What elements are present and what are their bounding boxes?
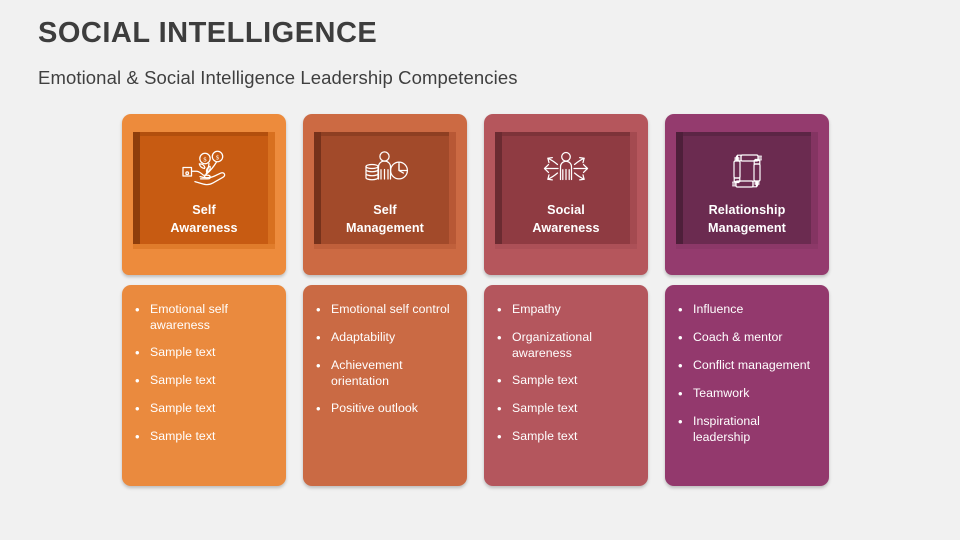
list-item-label: Empathy [512, 301, 636, 317]
list-item[interactable]: •Organizational awareness [497, 329, 636, 361]
competency-inner-panel-relationship-management: RelationshipManagement [676, 132, 818, 249]
bullet-dot-icon: • [678, 385, 693, 402]
list-item[interactable]: •Sample text [497, 372, 636, 389]
competency-title-line2: Management [346, 219, 424, 237]
competency-bullets-card-self-awareness[interactable]: •Emotional self awareness•Sample text•Sa… [122, 285, 286, 486]
panel-left-shadow [495, 132, 502, 249]
page-subtitle: Emotional & Social Intelligence Leadersh… [38, 67, 518, 89]
list-item-label: Inspirational leadership [693, 413, 817, 445]
page-title: SOCIAL INTELLIGENCE [38, 18, 518, 50]
list-item[interactable]: •Empathy [497, 301, 636, 318]
list-item[interactable]: •Sample text [135, 372, 274, 389]
bullet-dot-icon: • [497, 329, 512, 346]
four-arms-square-icon [722, 148, 772, 194]
list-item-label: Organizational awareness [512, 329, 636, 361]
list-item[interactable]: •Achievement orientation [316, 357, 455, 389]
competency-bullets-card-self-management[interactable]: •Emotional self control•Adaptability•Ach… [303, 285, 467, 486]
competency-bullets-card-relationship-management[interactable]: •Influence•Coach & mentor•Conflict manag… [665, 285, 829, 486]
bullet-dot-icon: • [497, 400, 512, 417]
competency-title-self-awareness: SelfAwareness [166, 201, 241, 238]
list-item-label: Sample text [150, 428, 274, 444]
list-item[interactable]: •Emotional self control [316, 301, 455, 318]
list-item[interactable]: •Sample text [497, 400, 636, 417]
list-item[interactable]: •Sample text [135, 428, 274, 445]
panel-right-highlight [268, 132, 275, 249]
competency-title-line2: Awareness [532, 219, 599, 237]
bullet-dot-icon: • [316, 357, 331, 374]
competency-cards-row: $ $ SelfAwareness•Emotional self awarene… [122, 114, 838, 486]
competency-header-card-self-awareness[interactable]: $ $ SelfAwareness [122, 114, 286, 275]
bullet-dot-icon: • [497, 428, 512, 445]
panel-top-ledge [314, 132, 456, 136]
bullet-dot-icon: • [678, 329, 693, 346]
bullet-dot-icon: • [135, 344, 150, 361]
list-item[interactable]: •Influence [678, 301, 817, 318]
list-item[interactable]: •Inspirational leadership [678, 413, 817, 445]
list-item[interactable]: •Conflict management [678, 357, 817, 374]
list-item-label: Achievement orientation [331, 357, 455, 389]
competency-column-social-awareness: SocialAwareness•Empathy•Organizational a… [484, 114, 648, 486]
list-item-label: Sample text [512, 372, 636, 388]
list-item-label: Emotional self awareness [150, 301, 274, 333]
panel-left-shadow [314, 132, 321, 249]
bullet-dot-icon: • [497, 301, 512, 318]
list-item[interactable]: •Positive outlook [316, 400, 455, 417]
list-item-label: Coach & mentor [693, 329, 817, 345]
competency-title-self-management: SelfManagement [342, 201, 428, 238]
list-item-label: Sample text [150, 400, 274, 416]
competency-inner-panel-self-management: SelfManagement [314, 132, 456, 249]
competency-column-self-awareness: $ $ SelfAwareness•Emotional self awarene… [122, 114, 286, 486]
bullet-dot-icon: • [678, 413, 693, 430]
list-item-label: Adaptability [331, 329, 455, 345]
bullet-dot-icon: • [135, 428, 150, 445]
competency-title-line2: Awareness [170, 219, 237, 237]
bullet-dot-icon: • [678, 301, 693, 318]
competency-column-relationship-management: RelationshipManagement•Influence•Coach &… [665, 114, 829, 486]
bullet-dot-icon: • [316, 400, 331, 417]
list-item-label: Positive outlook [331, 400, 455, 416]
competency-title-line1: Relationship [708, 201, 786, 219]
panel-right-highlight [811, 132, 818, 249]
list-item-label: Sample text [512, 400, 636, 416]
person-radiating-arrows-icon [537, 148, 595, 194]
competency-title-line1: Self [170, 201, 237, 219]
panel-top-ledge [495, 132, 637, 136]
list-item[interactable]: •Sample text [135, 400, 274, 417]
person-coins-clock-icon [359, 148, 411, 194]
bullet-dot-icon: • [135, 301, 150, 318]
competency-title-social-awareness: SocialAwareness [528, 201, 603, 238]
list-item[interactable]: •Sample text [497, 428, 636, 445]
slide-header: SOCIAL INTELLIGENCE Emotional & Social I… [38, 18, 518, 89]
bullet-list-self-awareness: •Emotional self awareness•Sample text•Sa… [135, 301, 274, 445]
list-item[interactable]: •Emotional self awareness [135, 301, 274, 333]
bullet-dot-icon: • [135, 400, 150, 417]
bullet-dot-icon: • [316, 329, 331, 346]
bullet-dot-icon: • [135, 372, 150, 389]
bullet-list-relationship-management: •Influence•Coach & mentor•Conflict manag… [678, 301, 817, 445]
competency-header-card-self-management[interactable]: SelfManagement [303, 114, 467, 275]
bullet-dot-icon: • [316, 301, 331, 318]
bullet-list-social-awareness: •Empathy•Organizational awareness•Sample… [497, 301, 636, 445]
bullet-dot-icon: • [497, 372, 512, 389]
panel-right-highlight [630, 132, 637, 249]
competency-title-line2: Management [708, 219, 786, 237]
list-item-label: Influence [693, 301, 817, 317]
panel-bottom-ledge [676, 244, 818, 249]
list-item-label: Conflict management [693, 357, 817, 373]
bullet-list-self-management: •Emotional self control•Adaptability•Ach… [316, 301, 455, 417]
panel-bottom-ledge [133, 244, 275, 249]
competency-header-card-relationship-management[interactable]: RelationshipManagement [665, 114, 829, 275]
panel-left-shadow [676, 132, 683, 249]
panel-top-ledge [676, 132, 818, 136]
panel-bottom-ledge [495, 244, 637, 249]
hand-plant-coins-icon: $ $ [178, 148, 230, 194]
bullet-dot-icon: • [678, 357, 693, 374]
panel-top-ledge [133, 132, 275, 136]
competency-title-line1: Social [532, 201, 599, 219]
competency-inner-panel-self-awareness: $ $ SelfAwareness [133, 132, 275, 249]
list-item-label: Teamwork [693, 385, 817, 401]
competency-inner-panel-social-awareness: SocialAwareness [495, 132, 637, 249]
competency-bullets-card-social-awareness[interactable]: •Empathy•Organizational awareness•Sample… [484, 285, 648, 486]
svg-text:$: $ [203, 157, 206, 164]
list-item[interactable]: •Adaptability [316, 329, 455, 346]
competency-title-relationship-management: RelationshipManagement [704, 201, 790, 238]
competency-title-line1: Self [346, 201, 424, 219]
list-item[interactable]: •Teamwork [678, 385, 817, 402]
panel-right-highlight [449, 132, 456, 249]
list-item[interactable]: •Sample text [135, 344, 274, 361]
list-item-label: Emotional self control [331, 301, 455, 317]
competency-header-card-social-awareness[interactable]: SocialAwareness [484, 114, 648, 275]
list-item-label: Sample text [150, 372, 274, 388]
list-item[interactable]: •Coach & mentor [678, 329, 817, 346]
panel-bottom-ledge [314, 244, 456, 249]
competency-column-self-management: SelfManagement•Emotional self control•Ad… [303, 114, 467, 486]
list-item-label: Sample text [150, 344, 274, 360]
list-item-label: Sample text [512, 428, 636, 444]
panel-left-shadow [133, 132, 140, 249]
svg-text:$: $ [216, 155, 219, 162]
